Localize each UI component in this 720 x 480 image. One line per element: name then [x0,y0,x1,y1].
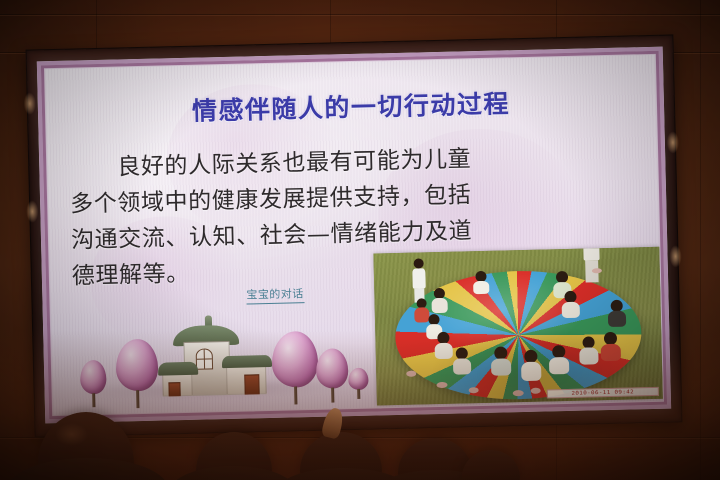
wall-seam [0,14,720,15]
child-figure [607,300,628,326]
child-figure [452,347,473,373]
child-figure [472,271,491,293]
tree-icon [271,331,318,388]
adult-figure [410,258,429,302]
child-figure [490,346,513,375]
child-figure [577,336,599,363]
presentation-slide: 情感伴随人的一切行动过程 良好的人际关系也最有可能为儿童 多个领域中的健康发展提… [37,47,671,424]
audience-head [462,450,520,480]
screen-frame: 情感伴随人的一切行动过程 良好的人际关系也最有可能为儿童 多个领域中的健康发展提… [26,34,683,437]
slide-canvas: 情感伴随人的一切行动过程 良好的人际关系也最有可能为儿童 多个领域中的健康发展提… [45,55,663,415]
adult-figure [581,247,602,285]
child-figure [599,332,622,361]
audience-shoulders [170,466,296,480]
projection-screen: 情感伴随人的一切行动过程 良好的人际关系也最有可能为儿童 多个领域中的健康发展提… [26,34,683,437]
slide-title: 情感伴随人的一切行动过程 [46,81,657,131]
child-figure [548,345,571,374]
child-figure [520,350,543,381]
audience-shoulders [8,458,168,480]
tree-icon [316,348,349,389]
child-figure [433,332,454,358]
children-parachute-photo: 2010-06-11 09:42 [373,247,663,406]
child-figure [560,291,581,317]
child-figure [430,288,449,312]
audience-silhouettes [0,384,720,480]
slide-hyperlink[interactable]: 宝宝的对话 [246,285,304,304]
